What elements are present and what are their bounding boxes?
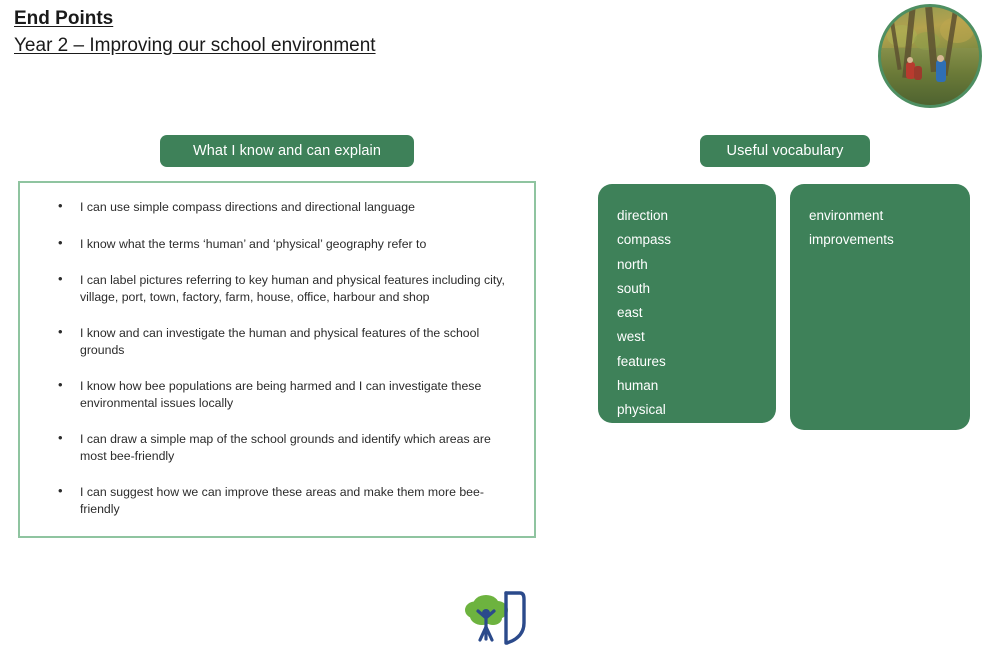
page-header: End Points Year 2 – Improving our school… <box>14 6 376 60</box>
photo-foliage <box>940 17 974 43</box>
school-logo <box>462 583 536 645</box>
list-item: I know how bee populations are being har… <box>58 378 516 411</box>
vocabulary-word: physical <box>617 398 776 422</box>
list-item: I know what the terms ‘human’ and ‘physi… <box>58 236 516 253</box>
banner-what-i-know: What I know and can explain <box>160 135 414 167</box>
page-subtitle: Year 2 – Improving our school environmen… <box>14 32 376 60</box>
page-title: End Points <box>14 6 376 32</box>
vocabulary-word: direction <box>617 204 776 228</box>
banner-what-i-know-label: What I know and can explain <box>193 143 381 159</box>
photo-child-figure <box>936 60 946 82</box>
forest-school-photo <box>878 4 982 108</box>
vocabulary-word: features <box>617 350 776 374</box>
end-points-list: I can use simple compass directions and … <box>20 183 534 517</box>
vocabulary-panel-secondary: environment improvements <box>790 184 970 430</box>
list-item: I can label pictures referring to key hu… <box>58 272 516 305</box>
banner-useful-vocabulary-label: Useful vocabulary <box>727 143 844 159</box>
end-points-panel: I can use simple compass directions and … <box>18 181 536 538</box>
vocabulary-panel-primary: direction compass north south east west … <box>598 184 776 423</box>
photo-child-figure <box>937 55 944 62</box>
list-item: I can suggest how we can improve these a… <box>58 484 516 517</box>
list-item: I can draw a simple map of the school gr… <box>58 431 516 464</box>
vocabulary-word: environment <box>809 204 970 228</box>
vocabulary-word: improvements <box>809 228 970 252</box>
vocabulary-word: compass <box>617 228 776 252</box>
list-item: I can use simple compass directions and … <box>58 199 516 216</box>
photo-child-figure <box>914 66 922 80</box>
vocabulary-word: north <box>617 253 776 277</box>
vocabulary-word: east <box>617 301 776 325</box>
list-item: I know and can investigate the human and… <box>58 325 516 358</box>
vocabulary-word: human <box>617 374 776 398</box>
vocabulary-word: west <box>617 325 776 349</box>
vocabulary-word: south <box>617 277 776 301</box>
banner-useful-vocabulary: Useful vocabulary <box>700 135 870 167</box>
school-logo-icon <box>462 583 536 645</box>
